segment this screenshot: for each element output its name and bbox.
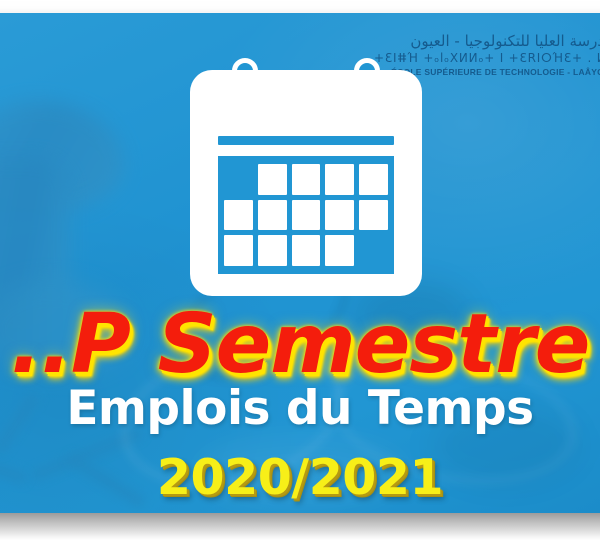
top-margin-strip <box>0 0 600 13</box>
calendar-cell <box>224 200 253 231</box>
calendar-cell <box>325 235 354 266</box>
calendar-icon <box>190 58 422 296</box>
logo-arabic-text: درسة العليا للتكنولوجيا - العيون <box>374 33 600 50</box>
calendar-cell <box>325 164 354 195</box>
calendar-cell <box>359 200 388 231</box>
calendar-cell <box>325 200 354 231</box>
calendar-cell <box>359 235 388 266</box>
calendar-header-bar <box>218 136 394 145</box>
calendar-grid <box>218 156 394 274</box>
poster-subtitle: Emplois du Temps <box>0 381 600 436</box>
calendar-cell <box>258 200 287 231</box>
calendar-cell <box>258 164 287 195</box>
pushpin-icon <box>0 101 124 213</box>
calendar-body <box>190 70 422 296</box>
poster-canvas: درسة العليا للتكنولوجيا - العيون +ƐIⵌΉ +… <box>0 13 600 513</box>
calendar-cell <box>292 235 321 266</box>
poster-headline: ..P Semestre <box>11 297 590 392</box>
calendar-cell <box>292 200 321 231</box>
calendar-cell <box>359 164 388 195</box>
calendar-cell <box>292 164 321 195</box>
poster-year: 2020/2021 <box>0 449 600 506</box>
calendar-cell <box>224 235 253 266</box>
calendar-cell <box>224 164 253 195</box>
bottom-shadow-strip <box>0 513 600 540</box>
calendar-cell <box>258 235 287 266</box>
poster: درسة العليا للتكنولوجيا - العيون +ƐIⵌΉ +… <box>0 0 600 540</box>
